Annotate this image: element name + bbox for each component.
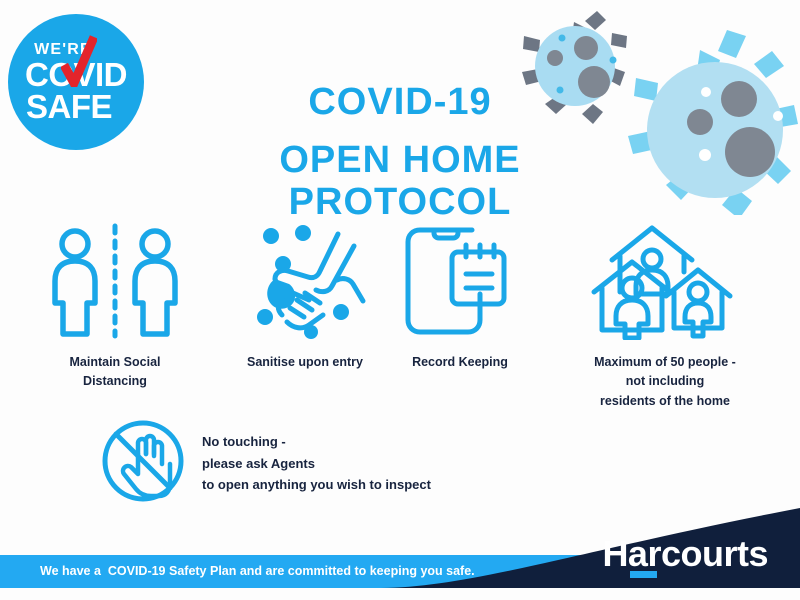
harcourts-logo: Harcourts bbox=[602, 536, 768, 572]
harcourts-logo-mark bbox=[630, 571, 657, 578]
page-subtitle: OPEN HOME PROTOCOL bbox=[170, 140, 630, 224]
no-touching-hand-icon bbox=[100, 418, 186, 509]
badge-covid-label: COVID bbox=[25, 59, 127, 90]
no-touching-text: No touching - please ask Agents to open … bbox=[202, 431, 431, 495]
covid-open-home-protocol-poster: WE'RE COVID SAFE COVID-19 OPEN HOME PROT… bbox=[0, 0, 800, 600]
protocol-caption: Maximum of 50 people - not including res… bbox=[594, 353, 736, 411]
protocol-item-sanitise: Sanitise upon entry bbox=[230, 222, 380, 372]
covid-safe-badge: WE'RE COVID SAFE bbox=[8, 14, 144, 150]
protocol-item-record-keeping: Record Keeping bbox=[380, 222, 540, 372]
protocol-caption: Record Keeping bbox=[412, 353, 508, 372]
poster-title-block: COVID-19 OPEN HOME PROTOCOL bbox=[170, 82, 630, 223]
page-title: COVID-19 bbox=[170, 82, 630, 124]
social-distancing-icon bbox=[45, 222, 185, 340]
protocol-caption: Maintain Social Distancing bbox=[70, 353, 161, 392]
badge-safe-label: SAFE bbox=[26, 91, 112, 122]
virus-large-icon bbox=[628, 30, 798, 215]
protocol-caption: Sanitise upon entry bbox=[247, 353, 363, 372]
hand-sanitise-icon bbox=[242, 222, 368, 340]
three-houses-people-icon bbox=[590, 222, 740, 340]
red-check-icon bbox=[61, 35, 97, 87]
phone-record-keeping-icon bbox=[400, 222, 520, 340]
protocol-item-max-people: Maximum of 50 people - not including res… bbox=[540, 222, 790, 411]
footer-message: We have a COVID-19 Safety Plan and are c… bbox=[40, 555, 475, 588]
protocol-icon-row: Maintain Social Distancing bbox=[0, 222, 800, 411]
protocol-item-social-distancing: Maintain Social Distancing bbox=[0, 222, 230, 392]
no-touching-block: No touching - please ask Agents to open … bbox=[100, 418, 431, 509]
